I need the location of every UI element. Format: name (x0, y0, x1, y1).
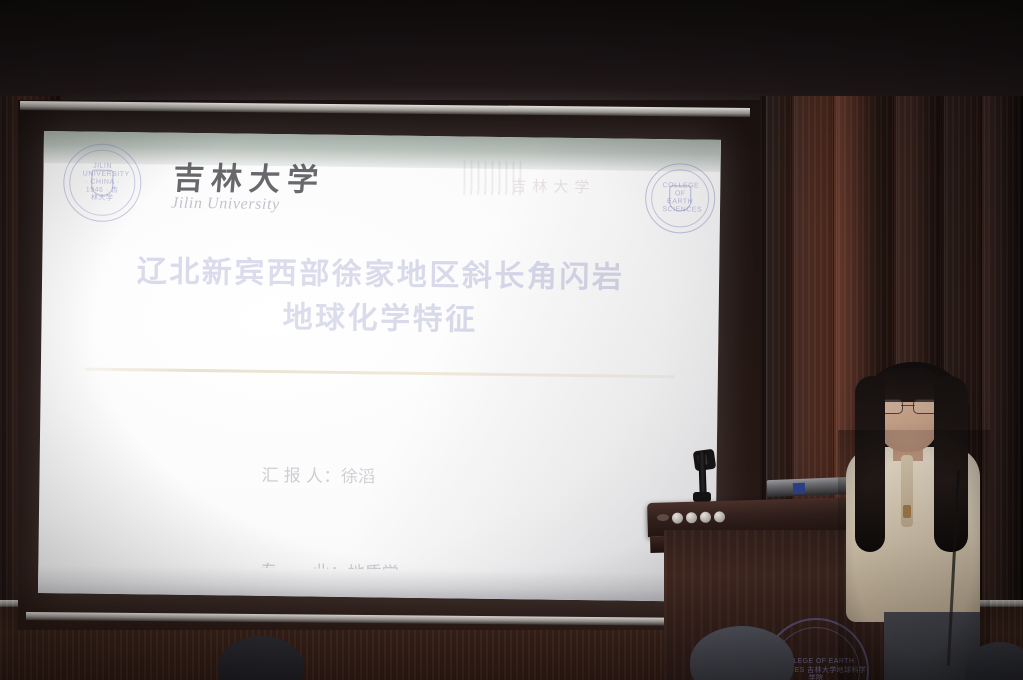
presenter-hair-left (855, 376, 885, 552)
seal-globe-icon (669, 185, 691, 211)
seal-shield-icon (91, 170, 113, 196)
slide-title-line-2: 地球化学特征 (41, 292, 719, 344)
podium-button-3[interactable] (700, 512, 711, 523)
ceiling (0, 0, 1023, 108)
jilin-university-seal: JILIN UNIVERSITY · CHINA · 1946 · 吉林大学 (63, 143, 142, 222)
slide-title-line-1: 辽北新宾西部徐家地区斜长角闪岩 (137, 255, 625, 294)
lecture-hall-scene: JILIN UNIVERSITY · CHINA · 1946 · 吉林大学 吉… (0, 0, 1023, 680)
info-row: 汇 报 人：徐滔 (261, 460, 536, 496)
info-value: 徐滔 (341, 467, 375, 486)
title-divider (85, 368, 675, 379)
watermark-text: 吉林大学 (511, 175, 595, 197)
podium-button-2[interactable] (686, 512, 697, 523)
university-calligraphy: 吉林大学 (172, 153, 328, 200)
college-of-earth-sciences-seal: COLLEGE OF EARTH SCIENCES (645, 163, 716, 234)
laptop-screen-item (793, 483, 805, 494)
presenter-zipper (903, 505, 911, 518)
university-english-name: Jilin University (171, 195, 280, 214)
podium-control-buttons[interactable] (672, 511, 725, 523)
campus-building-watermark: 吉林大学 (463, 150, 654, 214)
presenter-hair-right (934, 376, 968, 552)
podium-button-1[interactable] (672, 512, 683, 523)
wall-plank (984, 96, 1023, 680)
eyeglasses-icon (876, 399, 940, 412)
slide-title: 辽北新宾西部徐家地区斜长角闪岩 地球化学特征 (41, 249, 719, 345)
presentation-slide: JILIN UNIVERSITY · CHINA · 1946 · 吉林大学 吉… (38, 131, 721, 602)
podium-button-4[interactable] (714, 511, 725, 522)
projector-screen: JILIN UNIVERSITY · CHINA · 1946 · 吉林大学 吉… (38, 131, 721, 602)
info-label: 汇 报 人： (261, 466, 341, 486)
